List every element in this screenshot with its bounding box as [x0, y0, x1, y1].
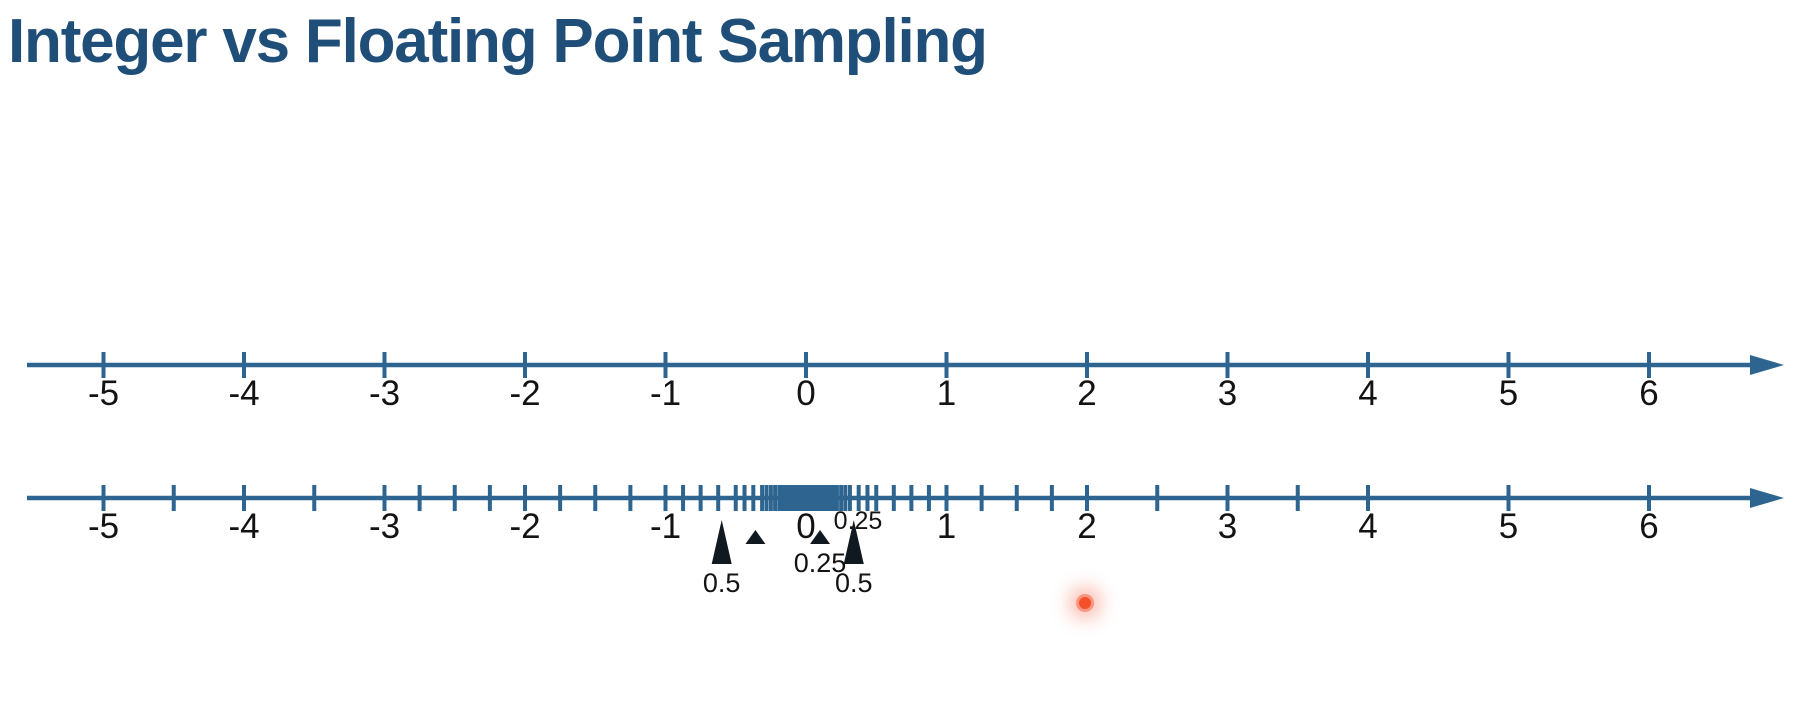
marker-gap-half-right-label: 0.5	[835, 570, 873, 597]
float-number-line: -5-4-3-2-101234560.25 0.50.250.5	[0, 438, 1814, 638]
tick-label-5: 5	[1499, 509, 1518, 544]
tick-label-neg3: -3	[369, 509, 400, 544]
tick-label-neg4: -4	[228, 376, 259, 411]
marker-gap-half-left-triangle-icon	[712, 520, 732, 564]
tick-label-1: 1	[937, 509, 956, 544]
tick-label-6: 6	[1639, 376, 1658, 411]
tick-label-neg3: -3	[369, 376, 400, 411]
gap-value-quarter: 0.25	[834, 509, 883, 534]
tick-label-neg2: -2	[509, 376, 540, 411]
tick-label-neg2: -2	[509, 509, 540, 544]
axis-arrow-icon	[1750, 488, 1784, 508]
tick-label-neg1: -1	[650, 376, 681, 411]
axis-arrow-icon	[1750, 355, 1784, 375]
tick-label-6: 6	[1639, 509, 1658, 544]
float-number-line-svg	[0, 438, 1814, 638]
tick-label-neg1: -1	[650, 509, 681, 544]
tick-label-4: 4	[1358, 376, 1377, 411]
tick-label-3: 3	[1218, 509, 1237, 544]
marker-gap-half-left-label: 0.5	[703, 570, 741, 597]
tick-label-neg5: -5	[88, 509, 119, 544]
tick-label-0: 0	[796, 509, 815, 544]
tick-label-neg4: -4	[228, 509, 259, 544]
tick-label-1: 1	[937, 376, 956, 411]
marker-gap-quarter-left-triangle-icon	[745, 530, 765, 544]
red-click-dot[interactable]	[1079, 597, 1091, 609]
tick-label-0: 0	[796, 376, 815, 411]
tick-label-2: 2	[1077, 509, 1096, 544]
tick-label-neg5: -5	[88, 376, 119, 411]
tick-label-4: 4	[1358, 509, 1377, 544]
tick-label-5: 5	[1499, 376, 1518, 411]
tick-label-3: 3	[1218, 376, 1237, 411]
page-title: Integer vs Floating Point Sampling	[8, 6, 987, 77]
tick-label-2: 2	[1077, 376, 1096, 411]
slide-canvas: Integer vs Floating Point Sampling -5-4-…	[0, 0, 1814, 728]
